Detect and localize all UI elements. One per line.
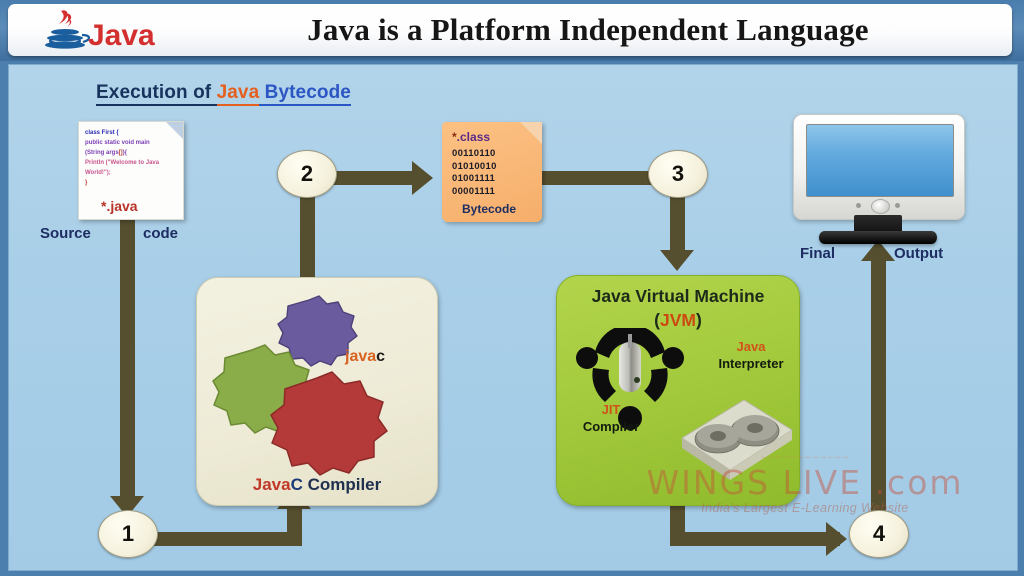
- monitor-led-left-icon: [856, 203, 861, 208]
- compiler-caption-java: Java: [253, 475, 291, 494]
- header-card: Java Java is a Platform Independent Lang…: [8, 4, 1012, 56]
- monitor-base: [819, 231, 937, 244]
- code-line-6: }: [85, 180, 87, 186]
- code-line-5: World!");: [85, 170, 111, 176]
- arrow-compiler-to-step2: [300, 196, 315, 280]
- class-file-label: *.class: [452, 130, 490, 144]
- interpreter-word: Interpreter: [705, 355, 797, 372]
- arrow-step4-to-monitor: [871, 258, 886, 513]
- arrow-step3-to-jvm-head: [660, 250, 694, 271]
- arrow-step2-to-bytecode: [330, 171, 416, 185]
- arrow-step1-to-compiler-up: [287, 508, 302, 546]
- jit-compiler-label: JIT Compiler: [565, 401, 657, 435]
- source-code-document: class First { public static void main (S…: [78, 121, 184, 220]
- code-label: code: [143, 225, 178, 242]
- compiler-caption-c: C: [291, 475, 303, 494]
- jvm-title: Java Virtual Machine (JVM): [557, 284, 799, 332]
- java-logo: Java: [22, 7, 172, 54]
- compiler-caption-compiler: Compiler: [303, 475, 381, 494]
- section-heading-part1: Execution of: [96, 82, 217, 106]
- binary-line-2: 01010010: [452, 161, 497, 174]
- jit-gear-plate-icon: [652, 386, 797, 491]
- step-bubble-2-number: 2: [301, 161, 313, 187]
- slide-canvas: Java Java is a Platform Independent Lang…: [0, 0, 1024, 576]
- step-bubble-1[interactable]: 1: [98, 510, 158, 558]
- class-extension: .class: [457, 130, 490, 144]
- page-title: Java is a Platform Independent Language: [188, 4, 988, 56]
- section-heading-bytecode: Bytecode: [259, 82, 351, 106]
- source-code-text: class First { public static void main (S…: [85, 128, 179, 188]
- jvm-title-line1: Java Virtual Machine: [557, 284, 799, 308]
- code-line-1: class First {: [85, 130, 119, 136]
- step-bubble-4-number: 4: [873, 521, 885, 547]
- javac-compiler-box: javac JavaC Compiler: [196, 277, 438, 506]
- step-bubble-3[interactable]: 3: [648, 150, 708, 198]
- code-line-3c: ){: [123, 150, 127, 156]
- svg-text:Java: Java: [88, 19, 155, 52]
- interpreter-java-word: Java: [705, 338, 797, 355]
- source-label: Source: [40, 225, 91, 242]
- arrow-step3-to-jvm: [670, 196, 685, 258]
- section-heading: Execution of Java Bytecode: [96, 82, 351, 104]
- javac-c-part: c: [376, 348, 385, 365]
- compiler-box-caption: JavaC Compiler: [197, 475, 437, 495]
- arrow-step1-to-compiler: [148, 532, 301, 546]
- header-band: Java Java is a Platform Independent Lang…: [0, 0, 1024, 61]
- arrow-source-to-step1: [120, 218, 135, 503]
- javac-java-part: java: [345, 348, 376, 365]
- code-line-4: Println ("Welcome to Java: [85, 160, 159, 166]
- step-bubble-2[interactable]: 2: [277, 150, 337, 198]
- watermark-flourish: ~~~~~~~~~~~~: [665, 452, 945, 464]
- java-interpreter-label: Java Interpreter: [705, 338, 797, 372]
- jit-compiler-word: Compiler: [565, 418, 657, 435]
- output-label: Output: [894, 245, 943, 262]
- step-bubble-3-number: 3: [672, 161, 684, 187]
- jit-word: JIT: [565, 401, 657, 418]
- final-label: Final: [800, 245, 835, 262]
- output-monitor: [793, 114, 963, 242]
- section-heading-java: Java: [217, 82, 260, 106]
- jvm-acronym: JVM: [660, 310, 696, 330]
- code-line-3a: (String args: [85, 150, 119, 156]
- javac-tool-label: javac: [345, 348, 385, 366]
- monitor-bezel: [793, 114, 965, 220]
- java-file-label: *.java: [101, 198, 138, 214]
- binary-line-3: 01001111: [452, 173, 497, 186]
- binary-line-4: 00001111: [452, 186, 497, 199]
- step-bubble-4[interactable]: 4: [849, 510, 909, 558]
- monitor-screen: [806, 124, 954, 197]
- binary-lines: 00110110 01010010 01001111 00001111: [452, 148, 497, 198]
- binary-line-1: 00110110: [452, 148, 497, 161]
- bytecode-document: *.class 00110110 01010010 01001111 00001…: [442, 122, 542, 222]
- arrow-jvm-to-step4-head: [826, 522, 847, 556]
- arrow-jvm-to-step4: [670, 532, 840, 546]
- step-bubble-1-number: 1: [122, 521, 134, 547]
- jvm-paren-close: ): [696, 310, 702, 330]
- arrow-step2-to-bytecode-head: [412, 161, 433, 195]
- gear-red-icon: [271, 372, 387, 475]
- arrow-bytecode-to-step3: [540, 171, 660, 185]
- monitor-led-right-icon: [895, 203, 900, 208]
- bytecode-page-fold-icon: [520, 122, 542, 144]
- code-line-2: public static void main: [85, 140, 150, 146]
- monitor-power-knob-icon: [871, 199, 890, 214]
- bytecode-caption: Bytecode: [462, 202, 516, 216]
- jvm-box: Java Virtual Machine (JVM): [556, 275, 800, 506]
